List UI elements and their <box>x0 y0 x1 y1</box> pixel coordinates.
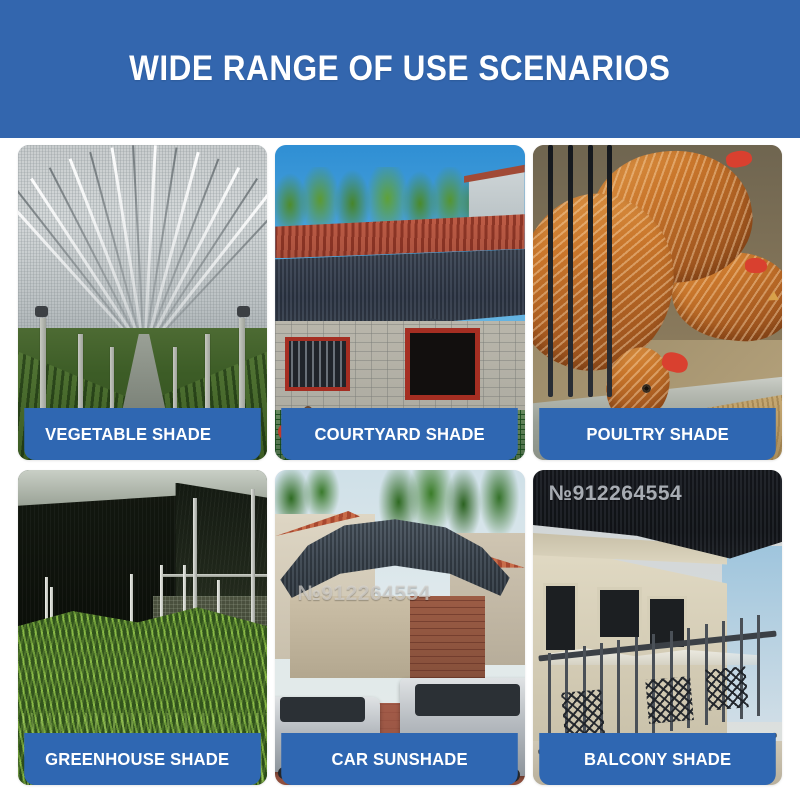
scenario-card-poultry-shade[interactable]: POULTRY SHADE <box>533 145 782 460</box>
promotional-banner: WIDE RANGE OF USE SCENARIOS <box>0 0 800 800</box>
scenario-grid: VEGETABLE SHADE <box>18 145 782 785</box>
header-banner: WIDE RANGE OF USE SCENARIOS <box>0 0 800 138</box>
card-caption-balcony-shade: BALCONY SHADE <box>539 733 776 785</box>
scenario-card-vegetable-shade[interactable]: VEGETABLE SHADE <box>18 145 267 460</box>
watermark-car-sunshade: №912264554 <box>297 582 431 606</box>
scenario-card-car-sunshade[interactable]: №912264554 CAR SUNSHADE <box>275 470 524 785</box>
card-caption-greenhouse-shade: GREENHOUSE SHADE <box>24 733 261 785</box>
watermark-balcony-shade: №912264554 <box>549 482 683 506</box>
card-caption-car-sunshade: CAR SUNSHADE <box>282 733 519 785</box>
scenario-card-greenhouse-shade[interactable]: GREENHOUSE SHADE <box>18 470 267 785</box>
card-caption-vegetable-shade: VEGETABLE SHADE <box>24 408 261 460</box>
page-title: WIDE RANGE OF USE SCENARIOS <box>129 49 670 89</box>
scenario-card-balcony-shade[interactable]: №912264554 BALCONY SHADE <box>533 470 782 785</box>
card-caption-poultry-shade: POULTRY SHADE <box>539 408 776 460</box>
scenario-card-courtyard-shade[interactable]: COURTYARD SHADE <box>275 145 524 460</box>
card-caption-courtyard-shade: COURTYARD SHADE <box>282 408 519 460</box>
